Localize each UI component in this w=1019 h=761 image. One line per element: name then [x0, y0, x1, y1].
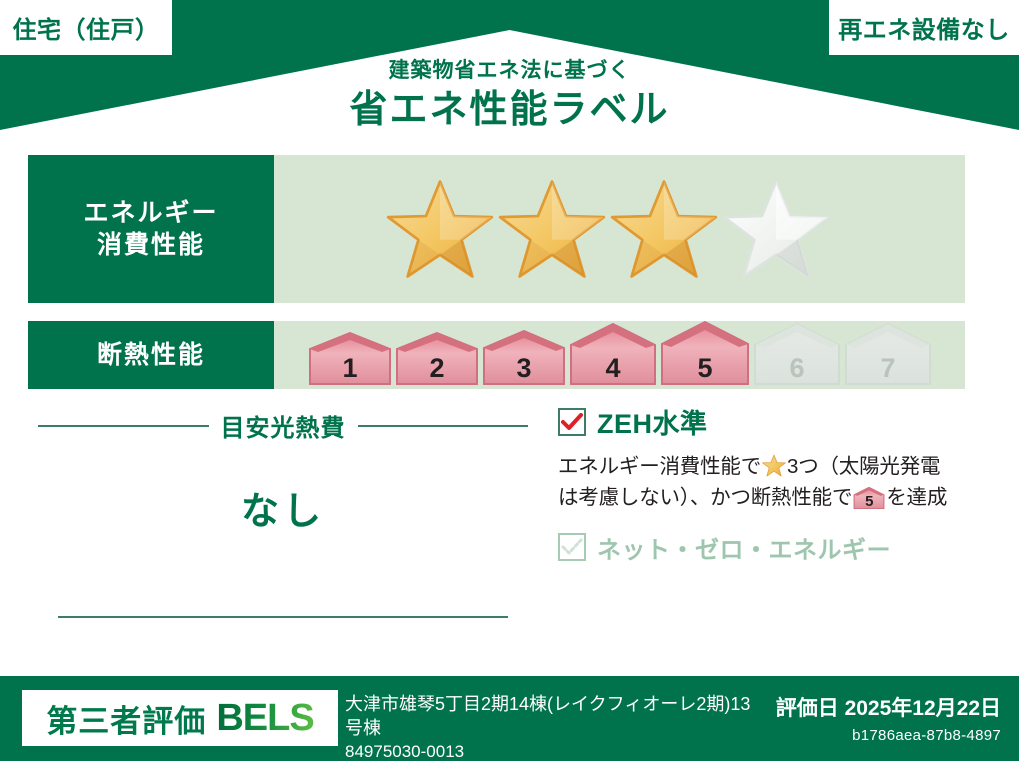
rule-right: [358, 425, 529, 427]
estimated-utility-cost-label: 目安光熱費: [221, 408, 346, 443]
footer-bar: 第三者評価 BELS 大津市雄琴5丁目2期14棟(レイクフィオーレ2期)13号棟…: [0, 676, 1019, 761]
insulation-level-number: 4: [569, 355, 657, 382]
star-rating: [386, 177, 830, 281]
zeh-title: ZEH水準: [597, 402, 708, 441]
evaluation-info: 評価日 2025年12月22日 b1786aea-87b8-4897: [776, 692, 1001, 744]
insulation-label-text: 断熱性能: [97, 339, 205, 372]
insulation-level-4: 4: [569, 323, 657, 390]
bels-logo: 第三者評価 BELS: [22, 690, 338, 746]
estimated-utility-cost-block: 目安光熱費 なし: [38, 398, 528, 638]
house-badge-level: 5: [853, 494, 885, 509]
check-icon-faded: [561, 538, 583, 556]
evaluation-date-value: 2025年12月22日: [845, 697, 1001, 720]
title-block: 建築物省エネ法に基づく 省エネ性能ラベル: [0, 58, 1019, 135]
estimated-utility-cost-value: なし: [38, 480, 528, 535]
evaluation-date-label: 評価日: [776, 697, 839, 720]
net-zero-energy-checkbox[interactable]: [558, 533, 586, 561]
star-icon-empty-4: [722, 177, 830, 281]
star-icon-filled-1: [386, 177, 494, 281]
estimated-utility-cost-header: 目安光熱費: [38, 408, 528, 443]
insulation-level-3: 3: [482, 330, 566, 390]
insulation-level-number: 2: [395, 355, 479, 382]
insulation-level-number: 5: [660, 355, 750, 382]
insulation-level-1: 1: [308, 332, 392, 390]
rule-left: [38, 425, 209, 427]
house-badge-inline: 5: [853, 487, 885, 509]
net-zero-energy-label: ネット・ゼロ・エネルギー: [597, 530, 891, 565]
star-icon-inline: [762, 454, 786, 477]
insulation-level-5: 5: [660, 321, 750, 390]
insulation-level-number: 6: [753, 355, 841, 382]
property-building-number: 84975030-0013: [345, 741, 765, 761]
evaluation-date: 評価日 2025年12月22日: [776, 692, 1001, 722]
insulation-level-6: 6: [753, 323, 841, 390]
star-icon-filled-2: [498, 177, 606, 281]
insulation-level-2: 2: [395, 332, 479, 390]
dwelling-type-tag: 住宅（住戸）: [0, 0, 172, 55]
energy-performance-label: エネルギー 消費性能: [28, 155, 274, 303]
energy-label-line2: 消費性能: [97, 229, 205, 262]
insulation-performance-row: 断熱性能 1: [28, 321, 965, 389]
zeh-desc-part1: エネルギー消費性能で: [558, 455, 761, 478]
zeh-description: エネルギー消費性能で 3つ（太陽光発電 は考慮しない）、かつ断熱性能で: [558, 452, 983, 514]
insulation-level-number: 1: [308, 355, 392, 382]
third-party-evaluation-label: 第三者評価: [46, 696, 206, 741]
cost-bottom-divider: [58, 616, 508, 618]
bels-energy-label: 住宅（住戸） 再エネ設備なし 建築物省エネ法に基づく 省エネ性能ラベル エネルギ…: [0, 0, 1019, 761]
title-subtitle: 建築物省エネ法に基づく: [0, 58, 1019, 83]
zeh-block: ZEH水準 エネルギー消費性能で 3つ（太陽光発電 は考慮しない）、かつ断熱性能…: [558, 402, 983, 565]
renewable-equipment-tag: 再エネ設備なし: [829, 0, 1019, 55]
star-icon-filled-3: [610, 177, 718, 281]
net-zero-energy-row: ネット・ゼロ・エネルギー: [558, 530, 983, 565]
insulation-performance-label: 断熱性能: [28, 321, 274, 389]
check-icon: [561, 413, 583, 431]
energy-label-line1: エネルギー: [83, 197, 218, 230]
zeh-checkbox[interactable]: [558, 408, 586, 436]
insulation-level-number: 3: [482, 355, 566, 382]
zeh-desc-part4: を達成: [886, 486, 947, 509]
zeh-title-row: ZEH水準: [558, 402, 983, 441]
insulation-level-7: 7: [844, 323, 932, 390]
label-body-panel: エネルギー 消費性能: [28, 148, 991, 660]
bels-wordmark: BELS: [216, 697, 313, 740]
zeh-desc-part2: 3つ（太陽光発電: [787, 455, 940, 478]
insulation-level-scale: 1 2: [308, 321, 932, 390]
insulation-level-number: 7: [844, 355, 932, 382]
energy-performance-row: エネルギー 消費性能: [28, 155, 965, 303]
zeh-desc-part3: は考慮しない）、かつ断熱性能で: [558, 486, 852, 509]
property-address: 大津市雄琴5丁目2期14棟(レイクフィオーレ2期)13号棟: [345, 692, 765, 741]
insulation-performance-value: 1 2: [274, 321, 965, 389]
property-info: 大津市雄琴5丁目2期14棟(レイクフィオーレ2期)13号棟 84975030-0…: [345, 692, 765, 761]
energy-performance-value: [274, 155, 965, 303]
certificate-id: b1786aea-87b8-4897: [776, 727, 1001, 744]
page-title: 省エネ性能ラベル: [0, 87, 1019, 135]
lower-section: 目安光熱費 なし ZEH水準 エネルギー消費性能で: [28, 398, 991, 660]
